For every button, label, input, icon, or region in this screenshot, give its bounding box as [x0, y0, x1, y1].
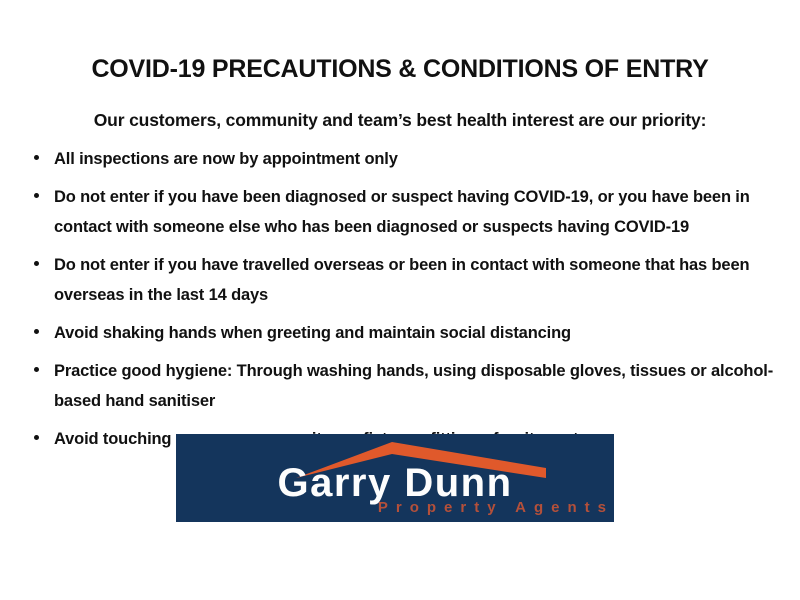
bullet-point-icon	[34, 155, 39, 160]
page-title: COVID-19 PRECAUTIONS & CONDITIONS OF ENT…	[0, 55, 800, 84]
company-logo: Garry Dunn Property Agents	[176, 434, 614, 522]
list-item: Practice good hygiene: Through washing h…	[28, 356, 780, 416]
bullet-point-icon	[34, 367, 39, 372]
list-item: Do not enter if you have travelled overs…	[28, 250, 780, 310]
logo-tagline: Property Agents	[220, 500, 614, 516]
list-item: Do not enter if you have been diagnosed …	[28, 182, 780, 242]
page-subtitle: Our customers, community and team’s best…	[0, 110, 800, 131]
covid-notice-page: COVID-19 PRECAUTIONS & CONDITIONS OF ENT…	[0, 0, 800, 600]
list-item-label: Do not enter if you have been diagnosed …	[54, 182, 780, 242]
list-item: All inspections are now by appointment o…	[28, 144, 780, 174]
bullet-point-icon	[34, 261, 39, 266]
bullet-point-icon	[34, 435, 39, 440]
logo-company-name: Garry Dunn	[176, 462, 614, 504]
list-item-label: Practice good hygiene: Through washing h…	[54, 356, 780, 416]
bullet-point-icon	[34, 329, 39, 334]
list-item-label: All inspections are now by appointment o…	[54, 144, 780, 174]
list-item-label: Do not enter if you have travelled overs…	[54, 250, 780, 310]
precautions-list: All inspections are now by appointment o…	[28, 144, 780, 454]
bullet-point-icon	[34, 193, 39, 198]
list-item-label: Avoid shaking hands when greeting and ma…	[54, 318, 780, 348]
list-item: Avoid shaking hands when greeting and ma…	[28, 318, 780, 348]
